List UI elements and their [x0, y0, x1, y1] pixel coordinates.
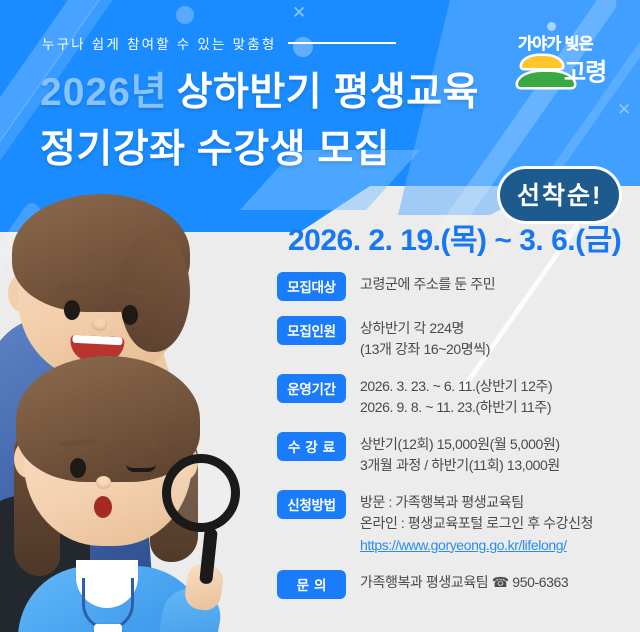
woman-nose	[96, 476, 111, 489]
info-text-line: (13개 강좌 16~20명씩)	[360, 339, 490, 360]
logo-sun-icon	[522, 56, 562, 68]
info-label-period: 운영기간	[277, 374, 346, 403]
woman-hair	[16, 356, 200, 482]
info-row: 모집대상 고령군에 주소를 둔 주민	[277, 272, 640, 301]
info-text-line: 상하반기 각 224명	[360, 318, 490, 339]
man-eye-right	[122, 305, 138, 325]
info-value-period: 2026. 3. 23. ~ 6. 11.(상반기 12주) 2026. 9. …	[360, 374, 552, 417]
info-text-line: 2026. 3. 23. ~ 6. 11.(상반기 12주)	[360, 376, 552, 397]
info-label-contact: 문의	[277, 570, 346, 599]
info-value-contact: 가족행복과 평생교육팀 ☎ 950-6363	[360, 570, 568, 593]
logo-top-text: 가야가 빚은	[518, 30, 593, 54]
info-text-line: 상반기(12회) 15,000원(월 5,000원)	[360, 434, 560, 455]
man-hair	[12, 194, 190, 312]
info-row: 문의 가족행복과 평생교육팀 ☎ 950-6363	[277, 570, 640, 599]
info-text-line: 고령군에 주소를 둔 주민	[360, 274, 495, 295]
lifelong-portal-link[interactable]: https://www.goryeong.go.kr/lifelong/	[360, 535, 593, 556]
info-label-target: 모집대상	[277, 272, 346, 301]
man-nose	[92, 318, 107, 331]
info-text-line: 3개월 과정 / 하반기(11회) 13,000원	[360, 455, 560, 476]
character-illustration	[0, 196, 270, 632]
info-label-fee: 수강료	[277, 432, 346, 461]
logo-bottom-text: 고령	[564, 52, 606, 87]
info-row: 모집인원 상하반기 각 224명 (13개 강좌 16~20명씩)	[277, 316, 640, 359]
decor-x-icon: ✕	[617, 101, 631, 118]
page-title-line-2: 정기강좌 수강생 모집	[40, 118, 390, 174]
info-row: 수강료 상반기(12회) 15,000원(월 5,000원) 3개월 과정 / …	[277, 432, 640, 475]
info-text-line: 2026. 9. 8. ~ 11. 23.(하반기 11주)	[360, 397, 552, 418]
tagline-text: 누구나 쉽게 참여할 수 있는 맞춤형	[42, 33, 276, 53]
tagline-rule	[288, 42, 396, 44]
woman-eye-right-winking	[126, 464, 156, 472]
id-card	[94, 624, 122, 632]
tagline-row: 누구나 쉽게 참여할 수 있는 맞춤형	[42, 33, 396, 53]
info-label-how-to-apply: 신청방법	[277, 490, 346, 519]
info-row: 신청방법 방문 : 가족행복과 평생교육팀 온라인 : 평생교육포털 로그인 후…	[277, 490, 640, 555]
title-main-1: 상하반기 평생교육	[177, 71, 479, 114]
info-value-fee: 상반기(12회) 15,000원(월 5,000원) 3개월 과정 / 하반기(…	[360, 432, 560, 475]
woman-mouth	[94, 496, 112, 518]
info-value-how-to-apply: 방문 : 가족행복과 평생교육팀 온라인 : 평생교육포털 로그인 후 수강신청…	[360, 490, 593, 555]
man-eye-left	[64, 300, 80, 320]
poster-root: ✕ ✕ ✕ 누구나 쉽게 참여할 수 있는 맞춤형 2026년상하반기 평생교육…	[0, 0, 640, 632]
info-list: 모집대상 고령군에 주소를 둔 주민 모집인원 상하반기 각 224명 (13개…	[277, 272, 640, 614]
lanyard	[82, 578, 134, 630]
title-year: 2026년	[40, 71, 168, 114]
magnifying-glass-icon	[162, 454, 240, 532]
info-text-line: 온라인 : 평생교육포털 로그인 후 수강신청	[360, 513, 593, 534]
info-row: 운영기간 2026. 3. 23. ~ 6. 11.(상반기 12주) 2026…	[277, 374, 640, 417]
info-text-line: 방문 : 가족행복과 평생교육팀	[360, 492, 593, 513]
decor-x-icon: ✕	[292, 4, 306, 21]
page-title-line-1: 2026년상하반기 평생교육	[40, 61, 479, 117]
info-value-capacity: 상하반기 각 224명 (13개 강좌 16~20명씩)	[360, 316, 490, 359]
application-period-headline: 2026. 2. 19.(목) ~ 3. 6.(금)	[288, 215, 621, 259]
info-text-line: 가족행복과 평생교육팀 ☎ 950-6363	[360, 572, 568, 593]
goryeong-logo: 가야가 빚은 고령	[512, 30, 624, 92]
info-value-target: 고령군에 주소를 둔 주민	[360, 272, 495, 295]
woman-eye-left	[70, 458, 86, 478]
info-label-capacity: 모집인원	[277, 316, 346, 345]
status-badge-first-come: 선착순!	[500, 169, 619, 221]
decor-dot-icon	[176, 6, 194, 24]
